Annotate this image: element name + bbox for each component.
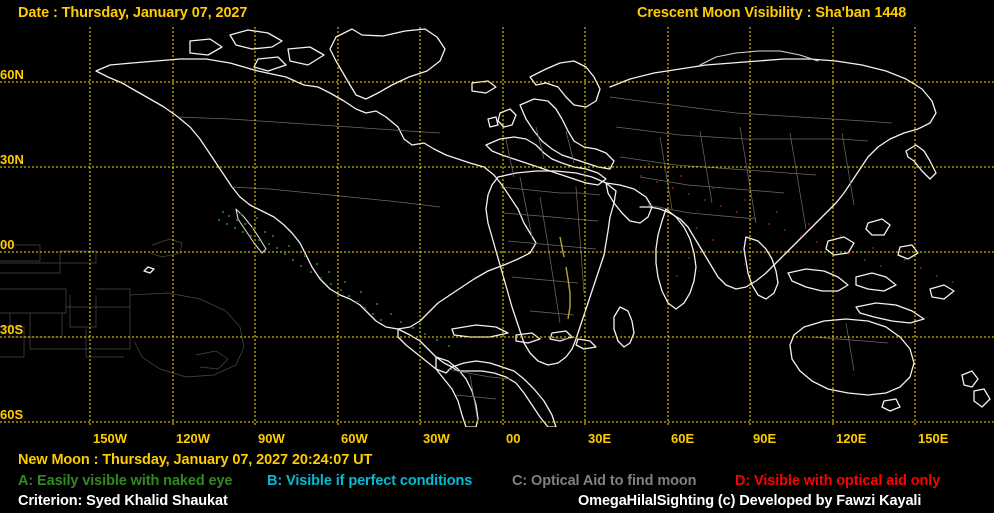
lat-label-60s: 60S [0,407,23,422]
date-label: Date : Thursday, January 07, 2027 [18,5,247,21]
criterion-label: Criterion: Syed Khalid Shaukat [18,493,228,509]
new-moon-label: New Moon : Thursday, January 07, 2027 20… [18,452,372,468]
chart-title: Crescent Moon Visibility : Sha'ban 1448 [637,5,906,21]
zone-d-markers [640,163,954,295]
world-map: 60N 30N 00 30S 60S [0,27,994,427]
lon-label-120e: 120E [836,431,866,446]
lon-label-60e: 60E [671,431,694,446]
lat-label-30n: 30N [0,152,24,167]
lon-label-60w: 60W [341,431,368,446]
lat-label-60n: 60N [0,67,24,82]
zone-a-markers [218,211,450,347]
longitude-axis: 150W 120W 90W 60W 30W 00 30E 60E 90E 120… [0,427,994,451]
map-canvas [0,27,994,427]
lon-label-30w: 30W [423,431,450,446]
lon-label-90w: 90W [258,431,285,446]
pacific-sector-lines [0,239,244,377]
lat-label-00: 00 [0,237,14,252]
legend-item-b: B: Visible if perfect conditions [267,473,472,489]
lon-label-30e: 30E [588,431,611,446]
lon-label-150w: 150W [93,431,127,446]
lon-label-90e: 90E [753,431,776,446]
legend-item-d: D: Visible with optical aid only [735,473,940,489]
country-borders [178,97,892,423]
credit-label: OmegaHilalSighting (c) Developed by Fawz… [578,493,921,509]
legend-item-c: C: Optical Aid to find moon [512,473,696,489]
graticule [0,27,994,427]
crescent-moon-visibility-map: Date : Thursday, January 07, 2027 Cresce… [0,0,994,513]
lon-label-00: 00 [506,431,520,446]
lon-label-120w: 120W [176,431,210,446]
legend-item-a: A: Easily visible with naked eye [18,473,232,489]
lat-label-30s: 30S [0,322,23,337]
lon-label-150e: 150E [918,431,948,446]
visibility-boundary [560,237,570,319]
